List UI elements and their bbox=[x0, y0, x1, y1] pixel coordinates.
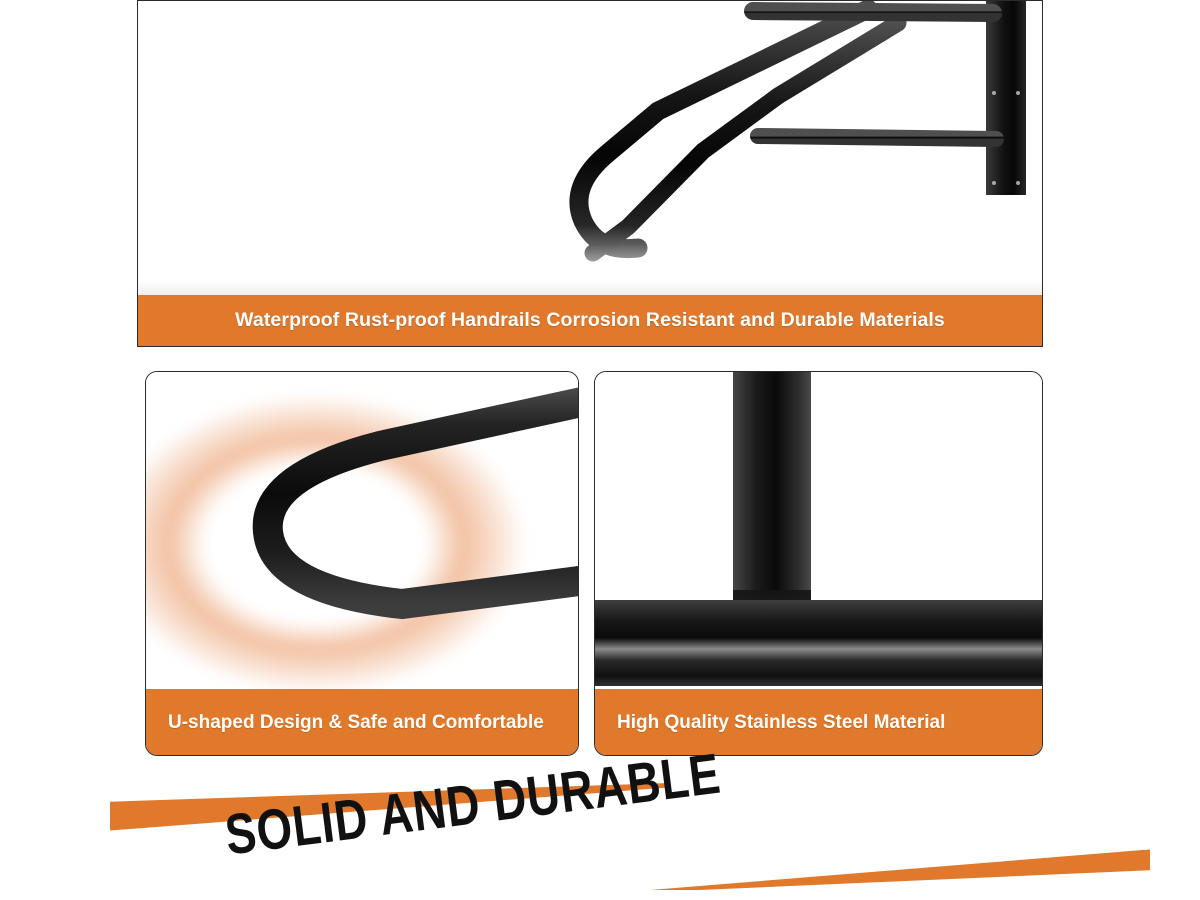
product-feature-graphic: Waterproof Rust-proof Handrails Corrosio… bbox=[0, 0, 1200, 900]
feature-card-u-shaped-design: U-shaped Design & Safe and Comfortable bbox=[145, 371, 579, 756]
feature-card-stainless-steel: High Quality Stainless Steel Material bbox=[594, 371, 1043, 756]
u-shape-caption-text: U-shaped Design & Safe and Comfortable bbox=[168, 710, 544, 735]
t-joint-photo bbox=[595, 372, 1042, 689]
steel-caption-text: High Quality Stainless Steel Material bbox=[617, 710, 945, 735]
u-shape-photo bbox=[146, 372, 578, 689]
hero-panel: Waterproof Rust-proof Handrails Corrosio… bbox=[137, 0, 1043, 347]
water-surface bbox=[138, 225, 1042, 295]
u-bend-graphic bbox=[190, 372, 578, 668]
u-shape-caption-bar: U-shaped Design & Safe and Comfortable bbox=[146, 689, 578, 755]
hero-photo bbox=[138, 1, 1042, 295]
horizontal-rail bbox=[595, 600, 1042, 686]
hero-caption-text: Waterproof Rust-proof Handrails Corrosio… bbox=[235, 309, 945, 332]
vertical-post bbox=[733, 372, 811, 600]
hero-caption-bar: Waterproof Rust-proof Handrails Corrosio… bbox=[138, 295, 1042, 346]
banner-headline: SOLID AND DURABLE bbox=[222, 744, 724, 866]
steel-caption-bar: High Quality Stainless Steel Material bbox=[595, 689, 1042, 755]
orange-wedge-right bbox=[650, 838, 1150, 890]
